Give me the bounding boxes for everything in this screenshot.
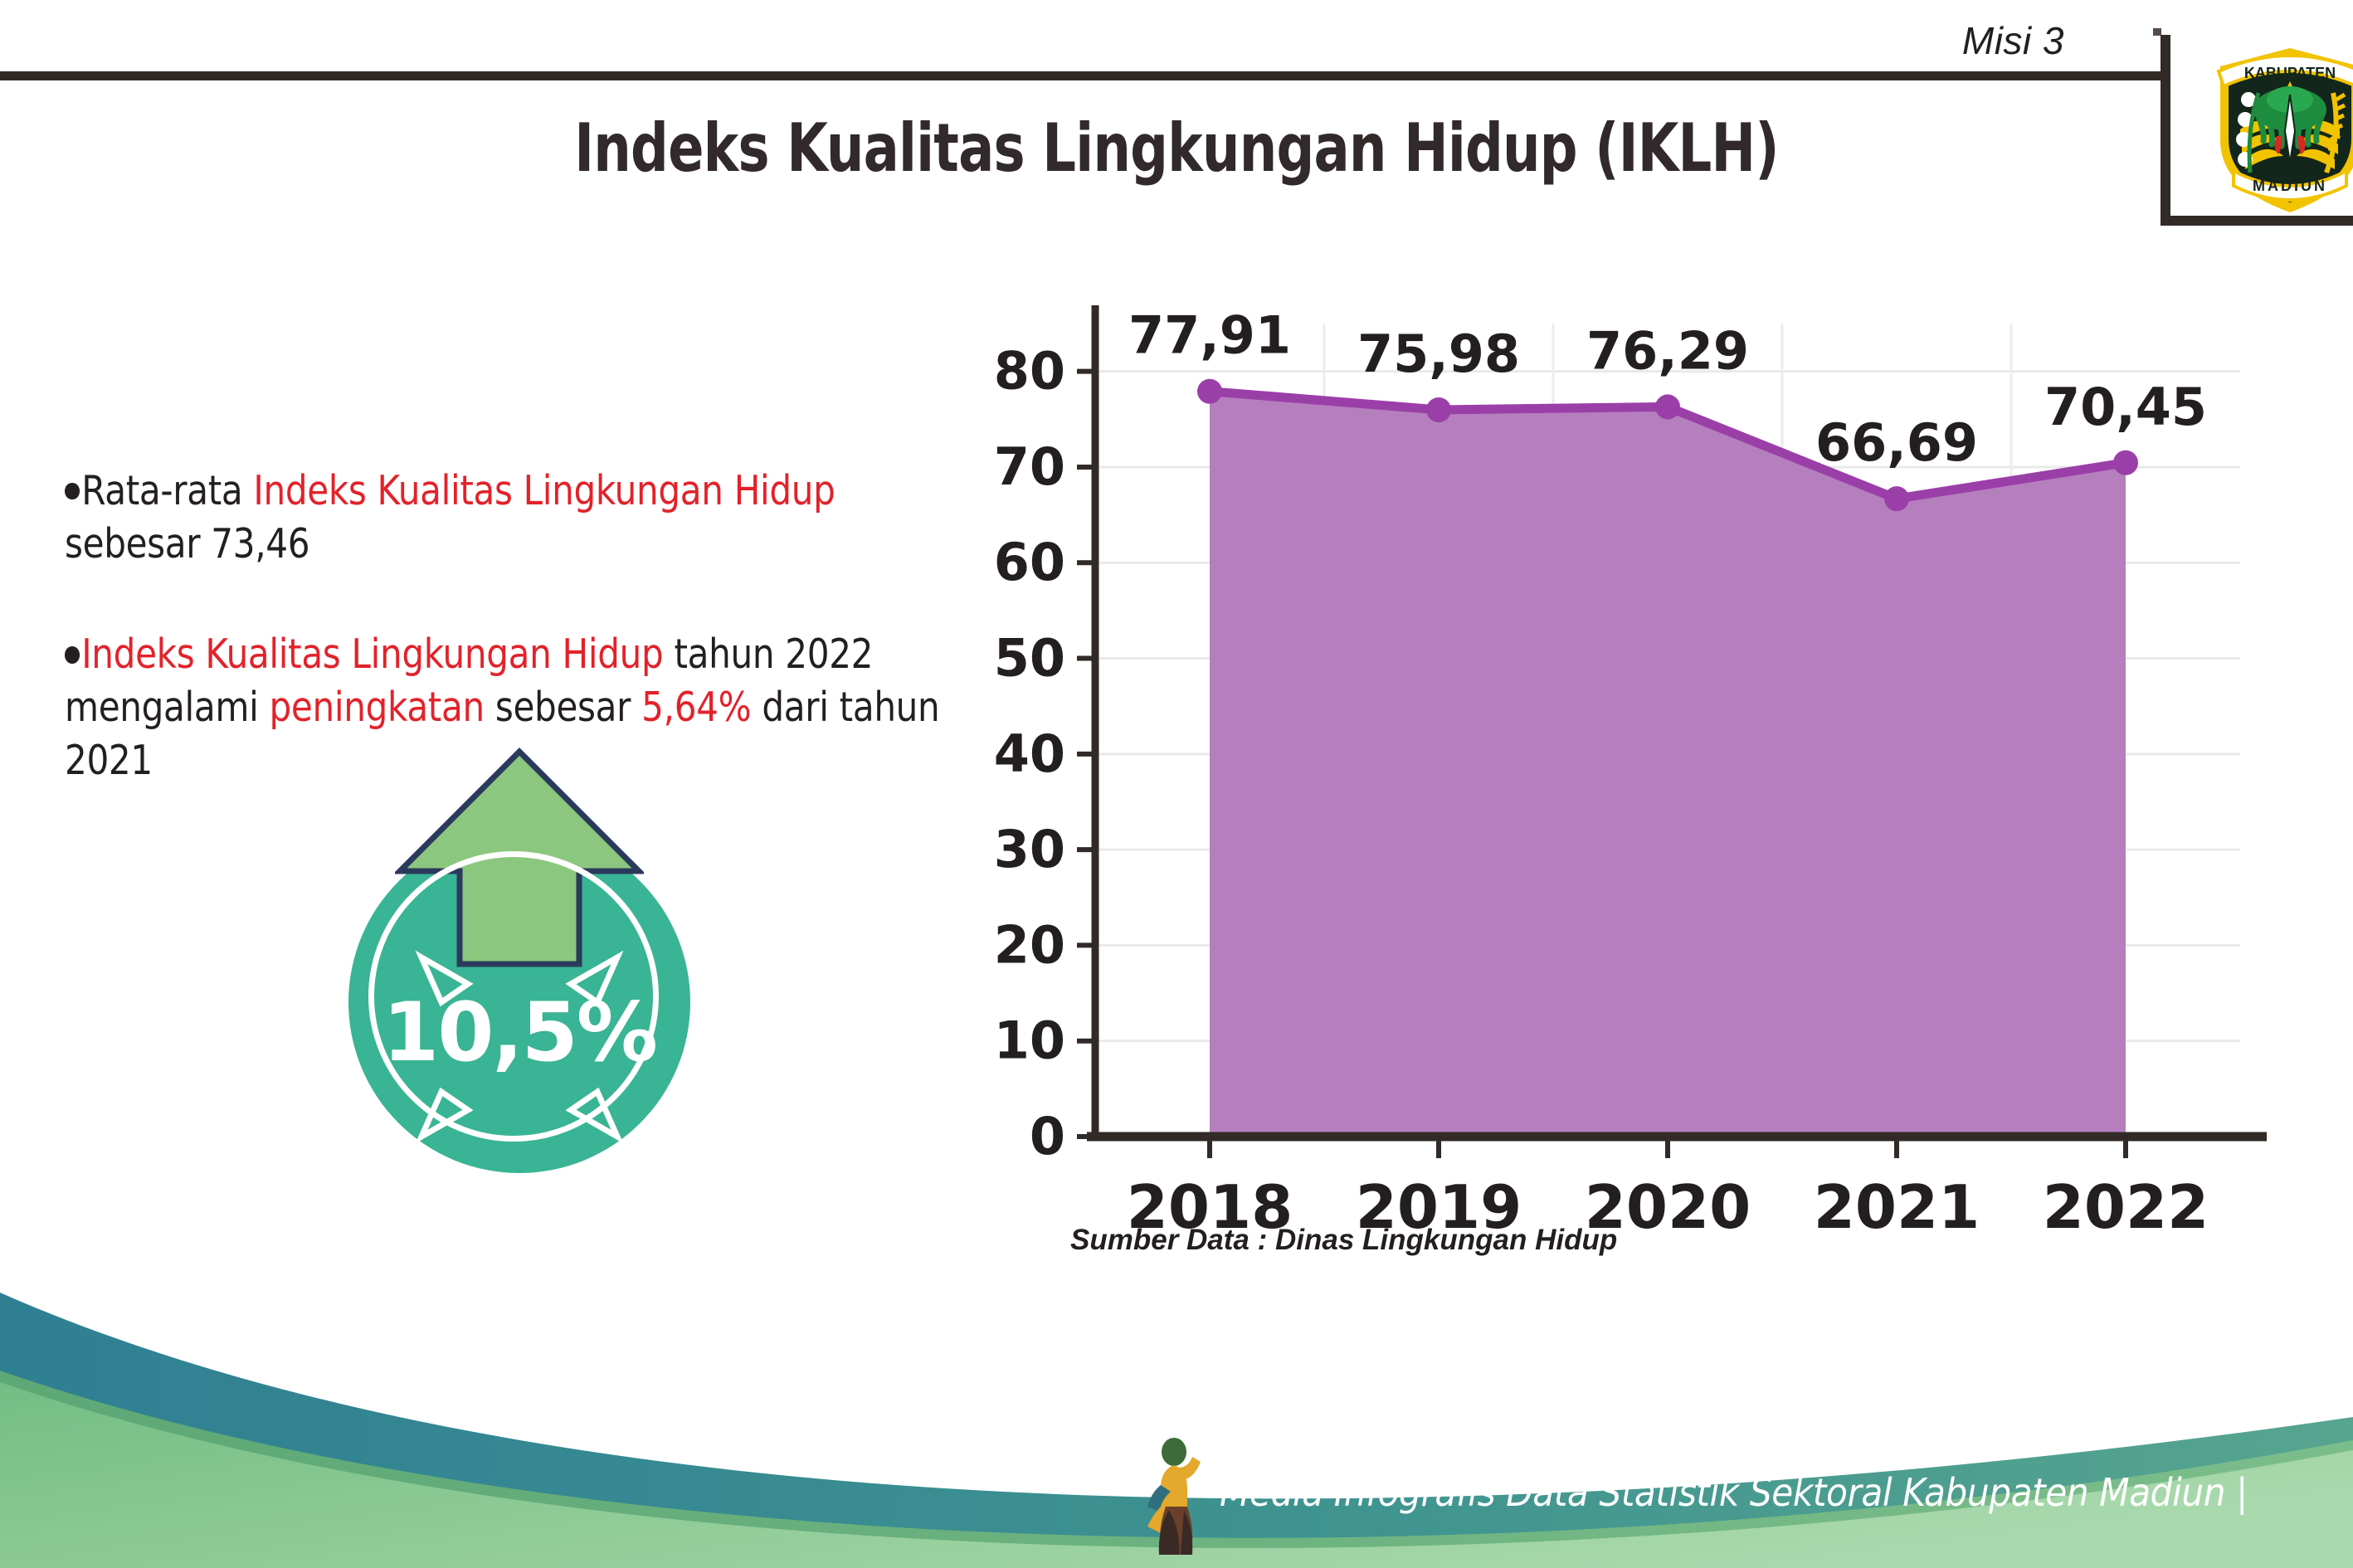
header-rule bbox=[0, 71, 2163, 80]
emblem-bottom-text: MADIUN bbox=[2253, 178, 2327, 194]
badge-value: 10,5% bbox=[348, 986, 690, 1080]
chart-data-label: 66,69 bbox=[1815, 412, 1978, 473]
y-axis-tick-label: 30 bbox=[994, 819, 1065, 879]
bullet-run: Indeks Kualitas Lingkungan Hidup bbox=[81, 631, 663, 678]
kabupaten-madiun-emblem-icon: KABUPATEN MADIUN bbox=[2190, 23, 2353, 222]
increase-badge: 10,5% bbox=[332, 747, 747, 1178]
y-axis-tick-label: 60 bbox=[994, 532, 1065, 592]
list-item: Rata-rata Indeks Kualitas Lingkungan Hid… bbox=[65, 465, 960, 570]
y-axis-tick-label: 40 bbox=[994, 723, 1065, 784]
misi-label: Misi 3 bbox=[1962, 18, 2064, 63]
emblem-top-text: KABUPATEN bbox=[2244, 65, 2336, 81]
y-axis-tick-label: 70 bbox=[994, 436, 1065, 497]
bullet-run: sebesar 73,46 bbox=[65, 520, 309, 567]
emblem-frame-vertical bbox=[2161, 35, 2170, 226]
chart-data-label: 75,98 bbox=[1357, 324, 1520, 384]
bullet-run: peningkatan bbox=[270, 684, 485, 731]
y-axis-tick-label: 50 bbox=[994, 628, 1065, 689]
page-title: Indeks Kualitas Lingkungan Hidup (IKLH) bbox=[236, 110, 2118, 187]
chart-data-point bbox=[1655, 394, 1680, 419]
chart-data-point bbox=[1884, 486, 1909, 511]
iklh-area-chart: 77,9175,9876,2966,6970,45010203040506070… bbox=[979, 290, 2273, 1286]
bullet-dot-icon bbox=[65, 483, 80, 500]
bullet-run: Rata-rata bbox=[81, 467, 253, 514]
y-axis-tick-label: 10 bbox=[994, 1010, 1065, 1071]
bullet-run: 5,64% bbox=[641, 684, 751, 731]
x-axis-tick-label: 2022 bbox=[2043, 1172, 2209, 1242]
chart-data-point bbox=[1426, 397, 1451, 422]
y-axis-tick-label: 20 bbox=[994, 914, 1065, 975]
infographic-slide: Misi 3 KABUPATEN bbox=[0, 0, 2353, 1568]
chart-data-point bbox=[2113, 450, 2138, 475]
media-infografis-logo-icon bbox=[1141, 1434, 1232, 1558]
bullet-list: Rata-rata Indeks Kualitas Lingkungan Hid… bbox=[65, 465, 961, 786]
y-axis-tick-label: 80 bbox=[994, 341, 1065, 402]
chart-data-point bbox=[1197, 379, 1222, 404]
bullet-text-1: Rata-rata Indeks Kualitas Lingkungan Hid… bbox=[65, 467, 835, 567]
chart-data-label: 76,29 bbox=[1586, 320, 1749, 381]
chart-source-note: Sumber Data : Dinas Lingkungan Hidup bbox=[1070, 1224, 1617, 1257]
bullet-run: sebesar bbox=[485, 684, 641, 731]
x-axis-tick-label: 2021 bbox=[1814, 1172, 1980, 1242]
chart-area-fill bbox=[1210, 392, 2126, 1137]
bullet-run: Indeks Kualitas Lingkungan Hidup bbox=[253, 467, 835, 514]
chart-data-label: 77,91 bbox=[1128, 305, 1291, 366]
chart-data-label: 70,45 bbox=[2044, 377, 2207, 437]
bullet-dot-icon bbox=[65, 646, 80, 664]
y-axis-tick-label: 0 bbox=[1030, 1106, 1065, 1166]
footer-text: Media Infografis Data Statistik Sektoral… bbox=[1220, 1470, 2248, 1515]
